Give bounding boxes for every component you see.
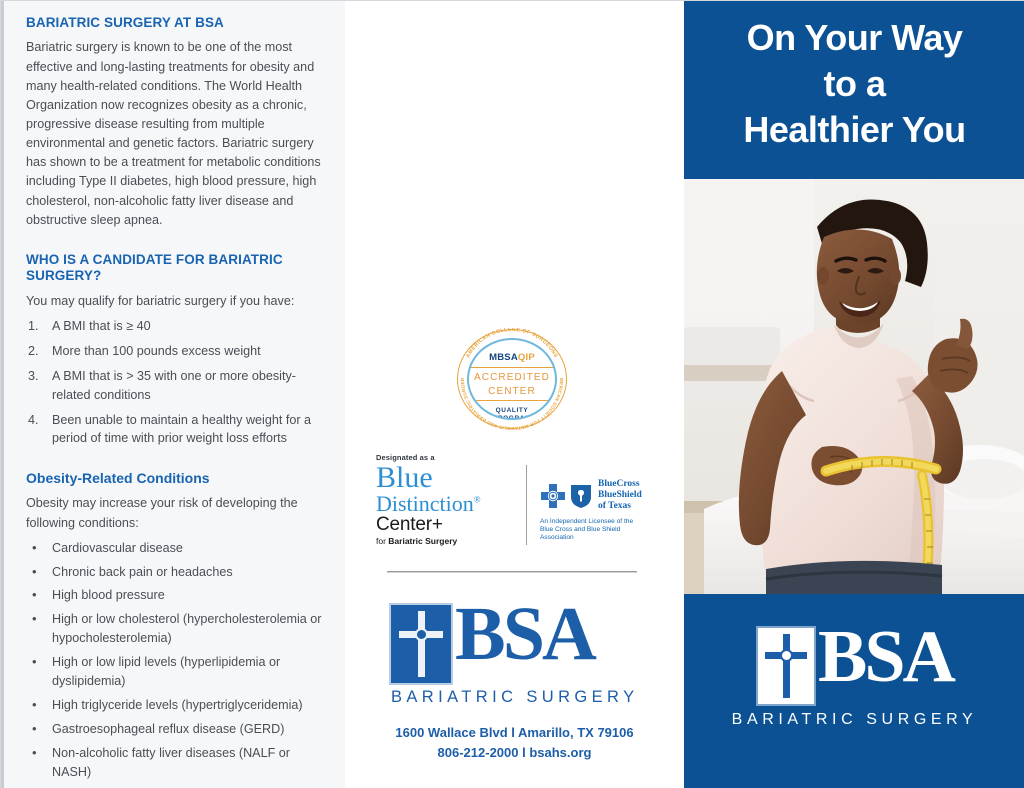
list-item: 1.A BMI that is ≥ 40 [26, 317, 327, 336]
list-item-label: High or low cholesterol (hypercholestero… [52, 612, 322, 645]
seal-line-accredited: ACCREDITED [469, 371, 555, 385]
licensee-line-2: Blue Cross and Blue Shield Association [540, 526, 652, 542]
bsa-logo-row-cover: BSA [756, 626, 953, 706]
bullet-icon: • [32, 652, 37, 672]
list-number: 4. [28, 411, 39, 430]
registered-mark: ® [474, 494, 481, 504]
list-item: 4.Been unable to maintain a healthy weig… [26, 411, 327, 449]
contact-info-block: 1600 Wallace Blvd l Amarillo, TX 79106 8… [345, 723, 684, 763]
seal-brand-part-1: MBSA [489, 352, 518, 363]
list-number: 1. [28, 317, 39, 336]
list-item: 2.More than 100 pounds excess weight [26, 342, 327, 361]
hero-photo-illustration [684, 179, 1024, 594]
seal-accredited-center-label: ACCREDITED CENTER [469, 371, 555, 398]
blue-distinction-word-distinction: Distinction® [376, 493, 518, 515]
bcbs-marks-row: BlueCross BlueShield of Texas [540, 479, 652, 513]
cross-center-dot [780, 649, 793, 662]
contact-phone-website[interactable]: 806-212-2000 l bsahs.org [345, 743, 684, 763]
bullet-icon: • [32, 585, 37, 605]
list-item-label: High blood pressure [52, 588, 165, 602]
blue-shield-icon [570, 483, 592, 509]
list-number: 2. [28, 342, 39, 361]
brochure-page: BARIATRIC SURGERY AT BSA Bariatric surge… [0, 0, 1024, 788]
seal-line-center: CENTER [469, 385, 555, 399]
bsa-logo-subtitle: BARIATRIC SURGERY [391, 688, 639, 707]
mbsaqip-accreditation-seal-icon: AMERICAN COLLEGE OF SURGEONS AMERICAN SO… [457, 329, 567, 429]
bcbs-texas-wordmark: BlueCross BlueShield of Texas [598, 479, 642, 513]
list-item-label: Chronic back pain or headaches [52, 565, 233, 579]
list-item-label: Been unable to maintain a healthy weight… [52, 413, 311, 446]
left-content-panel: BARIATRIC SURGERY AT BSA Bariatric surge… [1, 1, 345, 788]
list-item: •High triglyceride levels (hypertriglyce… [26, 696, 327, 715]
bsa-logo-subtitle-cover: BARIATRIC SURGERY [732, 711, 978, 729]
right-cover-panel: On Your Way to a Healthier You [684, 1, 1024, 788]
blue-distinction-specialty: for Bariatric Surgery [376, 536, 518, 546]
bullet-icon: • [32, 538, 37, 558]
bsa-cross-icon-cover [756, 626, 816, 706]
bcbs-line-1: BlueCross [598, 479, 642, 490]
list-item: •High or low lipid levels (hyperlipidemi… [26, 653, 327, 691]
list-item-label: Gastroesophageal reflux disease (GERD) [52, 722, 284, 736]
list-item-label: High triglyceride levels (hypertriglycer… [52, 698, 303, 712]
licensee-line-1: An Independent Licensee of the [540, 518, 652, 526]
seal-brand-label: MBSAQIP [469, 352, 555, 363]
bsa-cross-icon [389, 603, 453, 685]
list-item-label: More than 100 pounds excess weight [52, 344, 261, 358]
list-item-label: A BMI that is > 35 with one or more obes… [52, 369, 296, 402]
bcbs-texas-block: BlueCross BlueShield of Texas An Indepen… [540, 479, 652, 542]
section-intro-obesity: Obesity may increase your risk of develo… [26, 494, 327, 532]
seal-line-quality: QUALITY [469, 407, 555, 415]
horizontal-divider [387, 571, 637, 573]
section-candidate: WHO IS A CANDIDATE FOR BARIATRIC SURGERY… [26, 252, 327, 448]
bcbs-line-3: of Texas [598, 501, 642, 512]
section-heading-bariatric-surgery-at-bsa: BARIATRIC SURGERY AT BSA [26, 15, 327, 31]
list-item-label: Cardiovascular disease [52, 541, 183, 555]
obesity-conditions-list: •Cardiovascular disease •Chronic back pa… [26, 539, 327, 788]
headline-line-2: to a [684, 61, 1024, 107]
list-item: •Gastroesophageal reflux disease (GERD) [26, 720, 327, 739]
section-paragraph-bariatric-surgery: Bariatric surgery is known to be one of … [26, 38, 327, 229]
blue-distinction-left-block: Designated as a Blue Distinction® Center… [376, 453, 518, 546]
list-item-label: A BMI that is ≥ 40 [52, 319, 151, 333]
list-item: •Cardiovascular disease [26, 539, 327, 558]
spacer [26, 454, 327, 470]
blue-distinction-center-plus: Center+ [376, 515, 518, 535]
list-item: •Non-alcoholic fatty liver diseases (NAL… [26, 744, 327, 782]
list-item: 3.A BMI that is > 35 with one or more ob… [26, 367, 327, 405]
bullet-icon: • [32, 562, 37, 582]
cover-headline: On Your Way to a Healthier You [684, 15, 1024, 153]
bsa-bariatric-surgery-logo: BSA BARIATRIC SURGERY [389, 603, 639, 713]
cross-vertical-bar [783, 634, 790, 698]
bsa-wordmark: BSA [455, 603, 594, 667]
bsa-logo-row: BSA [389, 603, 639, 685]
seal-inner-disc: MBSAQIP ACCREDITED CENTER QUALITY PROGRA… [467, 338, 557, 420]
list-item-label: High or low lipid levels (hyperlipidemia… [52, 655, 280, 688]
cross-center-dot [415, 628, 428, 641]
list-item-label: Non-alcoholic fatty liver diseases (NALF… [52, 746, 290, 779]
section-obesity-related-conditions: Obesity-Related Conditions Obesity may i… [26, 470, 327, 788]
bullet-icon: • [32, 743, 37, 763]
blue-distinction-center-logo: Designated as a Blue Distinction® Center… [376, 453, 652, 549]
bcbs-licensee-disclaimer: An Independent Licensee of the Blue Cros… [540, 518, 652, 543]
section-intro-candidate: You may qualify for bariatric surgery if… [26, 292, 327, 311]
blue-distinction-word-blue: Blue [376, 464, 518, 493]
list-number: 3. [28, 367, 39, 386]
spacer [26, 240, 327, 252]
seal-brand-part-2: QIP [518, 352, 535, 363]
section-heading-obesity-related-conditions: Obesity-Related Conditions [26, 470, 327, 487]
cross-vertical-bar [418, 611, 425, 677]
section-bariatric-surgery-at-bsa: BARIATRIC SURGERY AT BSA Bariatric surge… [26, 15, 327, 230]
contact-address: 1600 Wallace Blvd l Amarillo, TX 79106 [345, 723, 684, 743]
list-item: •Chronic back pain or headaches [26, 563, 327, 582]
bullet-icon: • [32, 609, 37, 629]
bsa-wordmark-cover: BSA [818, 626, 953, 688]
hero-photo [684, 179, 1024, 594]
bullet-icon: • [32, 719, 37, 739]
logo-vertical-divider [526, 465, 527, 545]
bullet-icon: • [32, 695, 37, 715]
section-heading-candidate: WHO IS A CANDIDATE FOR BARIATRIC SURGERY… [26, 252, 327, 285]
headline-line-1: On Your Way [684, 15, 1024, 61]
distinction-text: Distinction [376, 491, 474, 516]
bcbs-line-2: BlueShield [598, 490, 642, 501]
blue-cross-icon [540, 483, 566, 509]
list-item: •High or low cholesterol (hypercholester… [26, 610, 327, 648]
specialty-name: Bariatric Surgery [388, 536, 457, 546]
candidate-criteria-list: 1.A BMI that is ≥ 40 2.More than 100 pou… [26, 317, 327, 448]
headline-line-3: Healthier You [684, 107, 1024, 153]
bsa-bariatric-surgery-logo-cover: BSA BARIATRIC SURGERY [684, 626, 1024, 729]
list-item: •High blood pressure [26, 586, 327, 605]
middle-content-panel: AMERICAN COLLEGE OF SURGEONS AMERICAN SO… [345, 1, 684, 788]
